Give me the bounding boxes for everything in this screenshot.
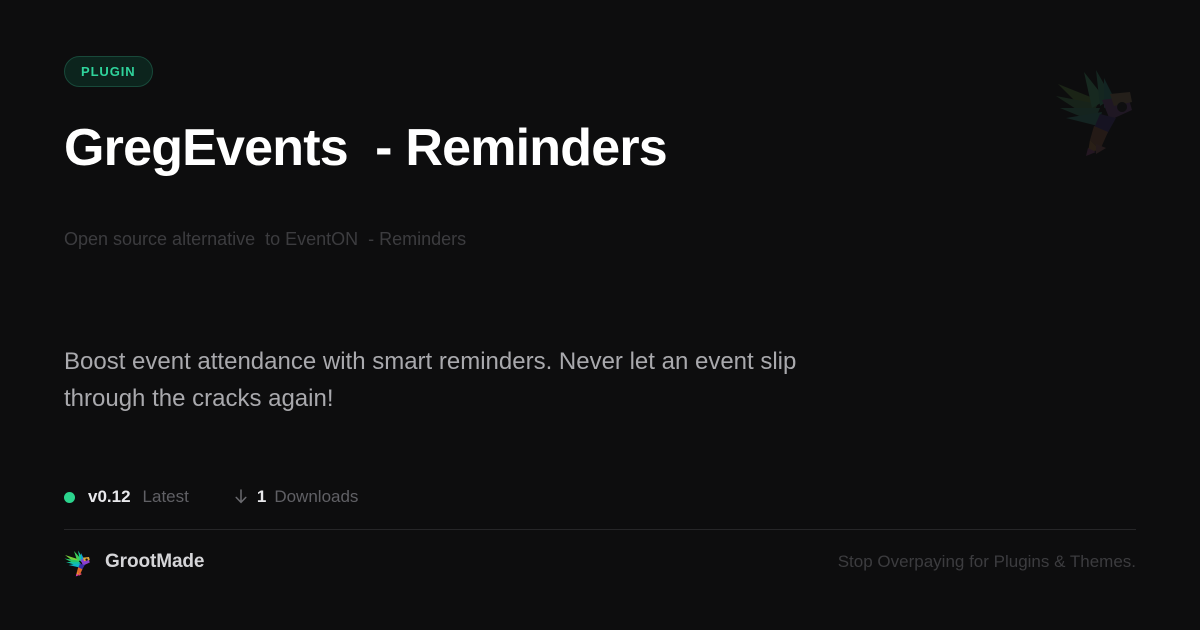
bird-logo-icon	[64, 547, 94, 577]
version-number: v0.12	[88, 487, 131, 507]
page-subtitle: Open source alternative to EventON - Rem…	[64, 226, 466, 252]
brand: GrootMade	[64, 547, 204, 577]
plugin-description: Boost event attendance with smart remind…	[64, 343, 884, 417]
status-dot-icon	[64, 492, 75, 503]
bird-logo-watermark-icon	[1044, 56, 1148, 160]
download-arrow-icon	[233, 488, 249, 506]
plugin-type-badge: PLUGIN	[64, 56, 153, 87]
version-tag-label: Latest	[143, 487, 189, 507]
downloads-group: 1 Downloads	[233, 487, 359, 507]
brand-name: GrootMade	[105, 551, 204, 573]
footer-divider	[64, 529, 1136, 530]
downloads-label: Downloads	[274, 487, 358, 507]
page-title: GregEvents - Reminders	[64, 117, 667, 179]
downloads-count: 1	[257, 487, 266, 507]
plugin-meta-row: v0.12 Latest 1 Downloads	[64, 485, 358, 509]
plugin-preview-card: PLUGIN GregEvents - Reminders Open sourc…	[0, 0, 1200, 630]
footer-tagline: Stop Overpaying for Plugins & Themes.	[838, 552, 1136, 572]
footer: GrootMade Stop Overpaying for Plugins & …	[64, 545, 1136, 579]
